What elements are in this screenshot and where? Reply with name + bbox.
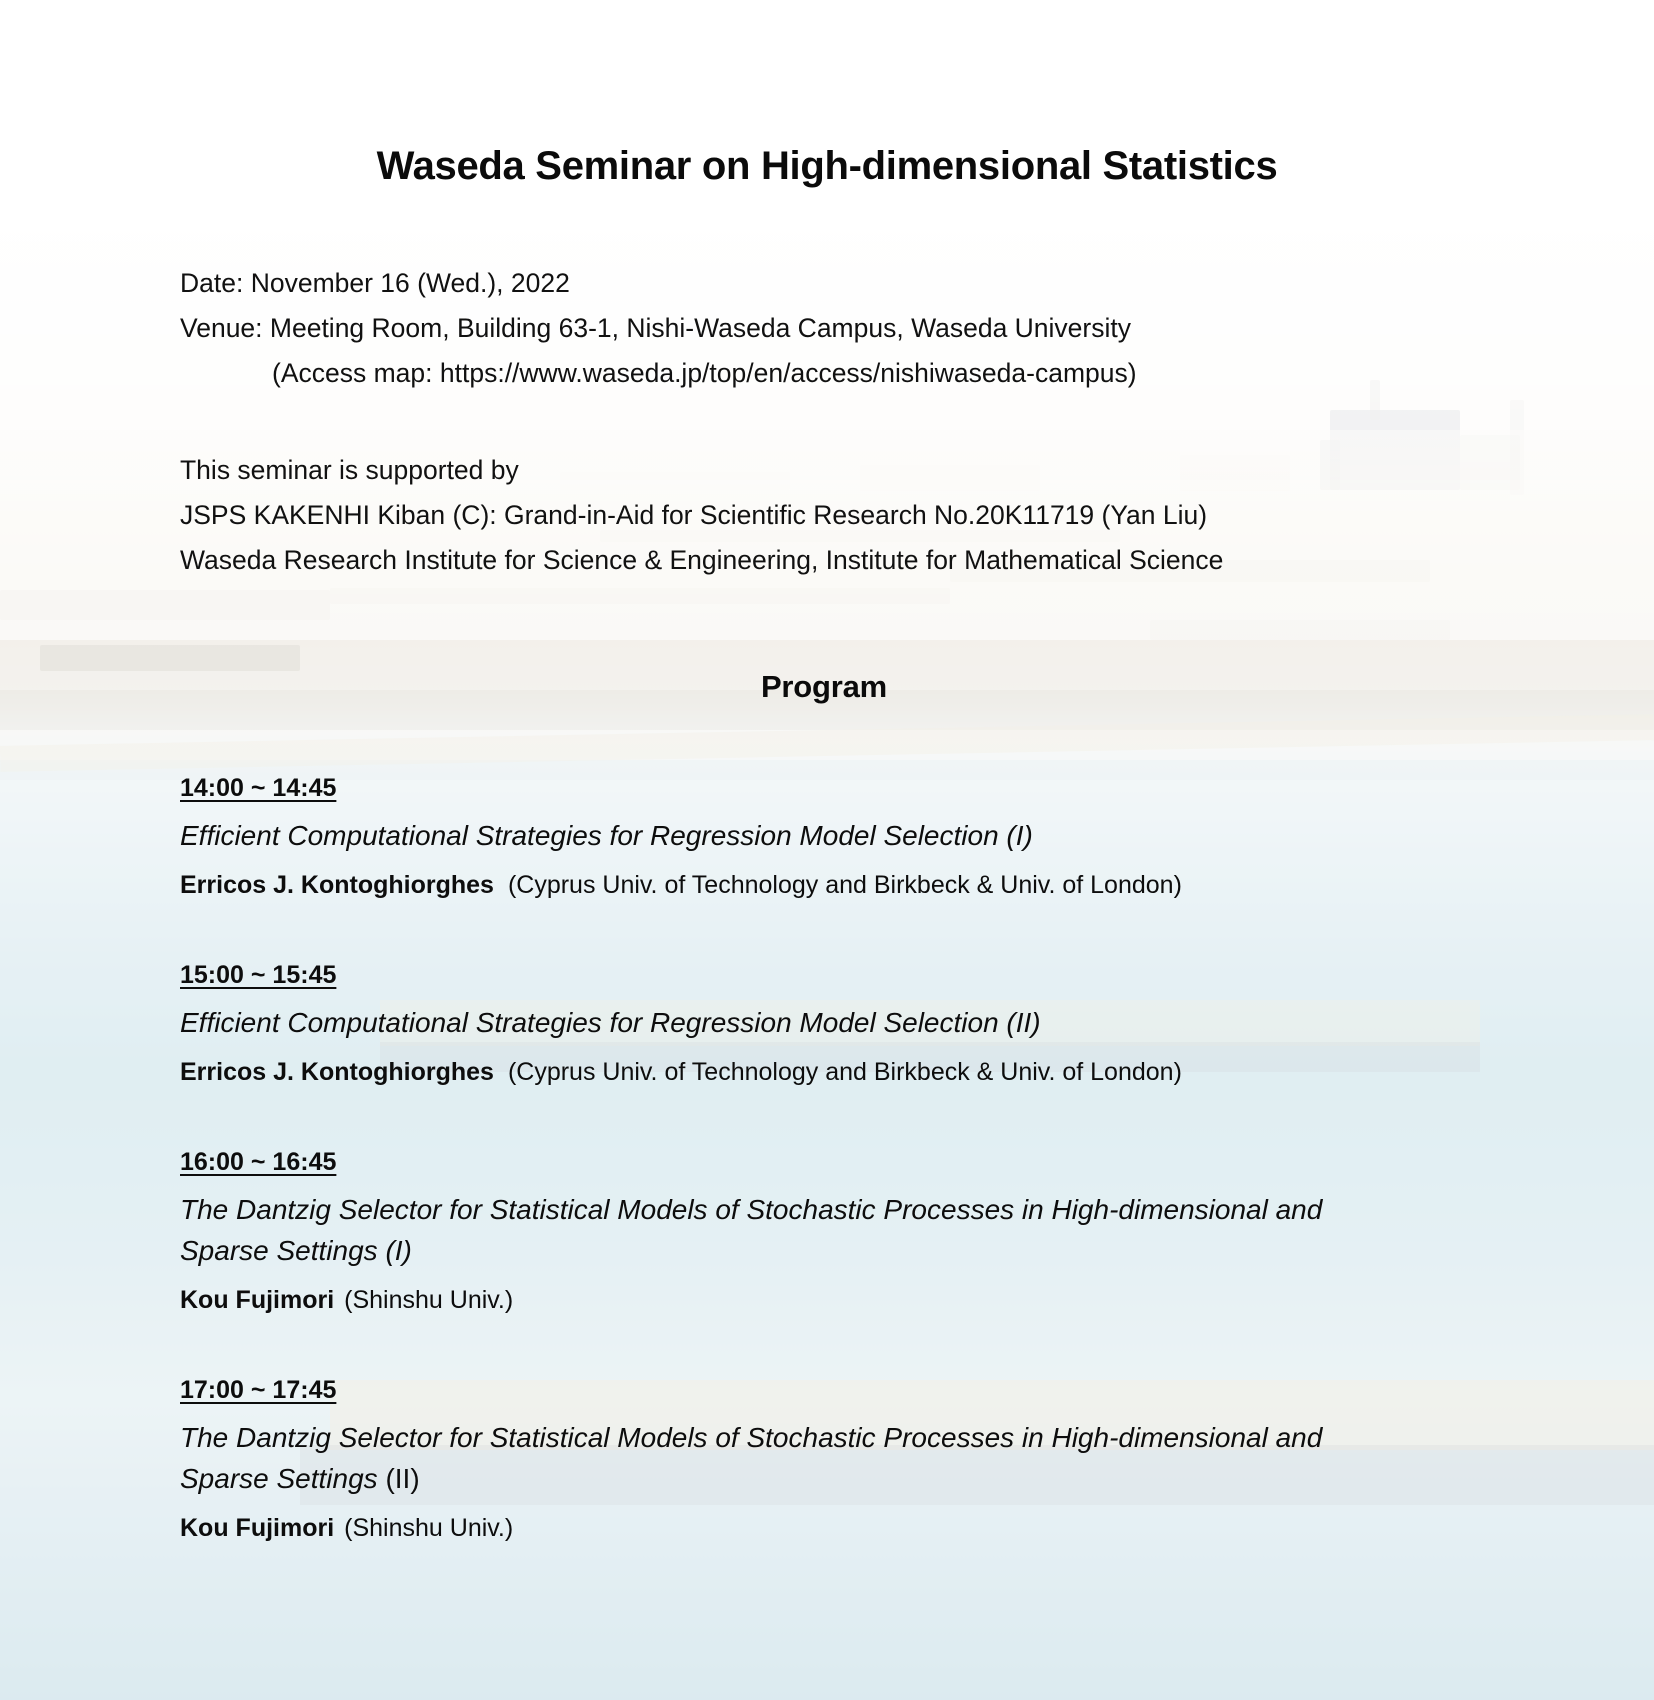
speaker-affiliation: (Shinshu Univ.) [334,1286,513,1314]
session-title-roman-suffix: (II) [378,1463,420,1494]
session-title: The Dantzig Selector for Statistical Mod… [180,1189,1380,1271]
support-line-waseda: Waseda Research Institute for Science & … [180,538,1494,583]
page-title: Waseda Seminar on High-dimensional Stati… [0,0,1654,189]
session-title: Efficient Computational Strategies for R… [180,1002,1380,1043]
session-item: 15:00 ~ 15:45 Efficient Computational St… [180,956,1494,1091]
session-title-text: Efficient Computational Strategies for R… [180,820,1033,851]
speaker-name: Kou Fujimori [180,1514,334,1542]
program-heading: Program [0,669,1654,705]
speaker-affiliation: (Cyprus Univ. of Technology and Birkbeck… [494,871,1182,899]
session-speaker-row: Kou Fujimori(Shinshu Univ.) [180,1509,1494,1547]
session-time: 17:00 ~ 17:45 [180,1371,336,1409]
event-access-map[interactable]: (Access map: https://www.waseda.jp/top/e… [180,351,1494,396]
seminar-poster-page: Waseda Seminar on High-dimensional Stati… [0,0,1654,1700]
support-line-jsps: JSPS KAKENHI Kiban (C): Grand-in-Aid for… [180,493,1494,538]
event-date: Date: November 16 (Wed.), 2022 [180,261,1494,306]
session-title-text: The Dantzig Selector for Statistical Mod… [180,1194,1322,1266]
speaker-affiliation: (Cyprus Univ. of Technology and Birkbeck… [494,1058,1182,1086]
session-speaker-row: Kou Fujimori(Shinshu Univ.) [180,1281,1494,1319]
session-time: 15:00 ~ 15:45 [180,956,336,994]
poster-content: Waseda Seminar on High-dimensional Stati… [0,0,1654,1547]
session-title: The Dantzig Selector for Statistical Mod… [180,1417,1380,1499]
spacer [0,396,1654,448]
session-speaker-row: Erricos J. Kontoghiorghes(Cyprus Univ. o… [180,1053,1494,1091]
session-title-text: The Dantzig Selector for Statistical Mod… [180,1422,1322,1494]
speaker-affiliation: (Shinshu Univ.) [334,1514,513,1542]
speaker-name: Erricos J. Kontoghiorghes [180,1058,494,1086]
event-venue: Venue: Meeting Room, Building 63-1, Nish… [180,306,1494,351]
support-intro: This seminar is supported by [180,448,1494,493]
speaker-name: Kou Fujimori [180,1286,334,1314]
session-title: Efficient Computational Strategies for R… [180,815,1380,856]
session-speaker-row: Erricos J. Kontoghiorghes(Cyprus Univ. o… [180,866,1494,904]
session-item: 17:00 ~ 17:45 The Dantzig Selector for S… [180,1371,1494,1547]
event-details: Date: November 16 (Wed.), 2022 Venue: Me… [180,261,1494,396]
session-item: 14:00 ~ 14:45 Efficient Computational St… [180,769,1494,904]
session-title-text: Efficient Computational Strategies for R… [180,1007,1041,1038]
session-time: 16:00 ~ 16:45 [180,1143,336,1181]
program-session-list: 14:00 ~ 14:45 Efficient Computational St… [180,769,1494,1547]
support-details: This seminar is supported by JSPS KAKENH… [180,448,1494,583]
session-item: 16:00 ~ 16:45 The Dantzig Selector for S… [180,1143,1494,1319]
session-time: 14:00 ~ 14:45 [180,769,336,807]
speaker-name: Erricos J. Kontoghiorghes [180,871,494,899]
